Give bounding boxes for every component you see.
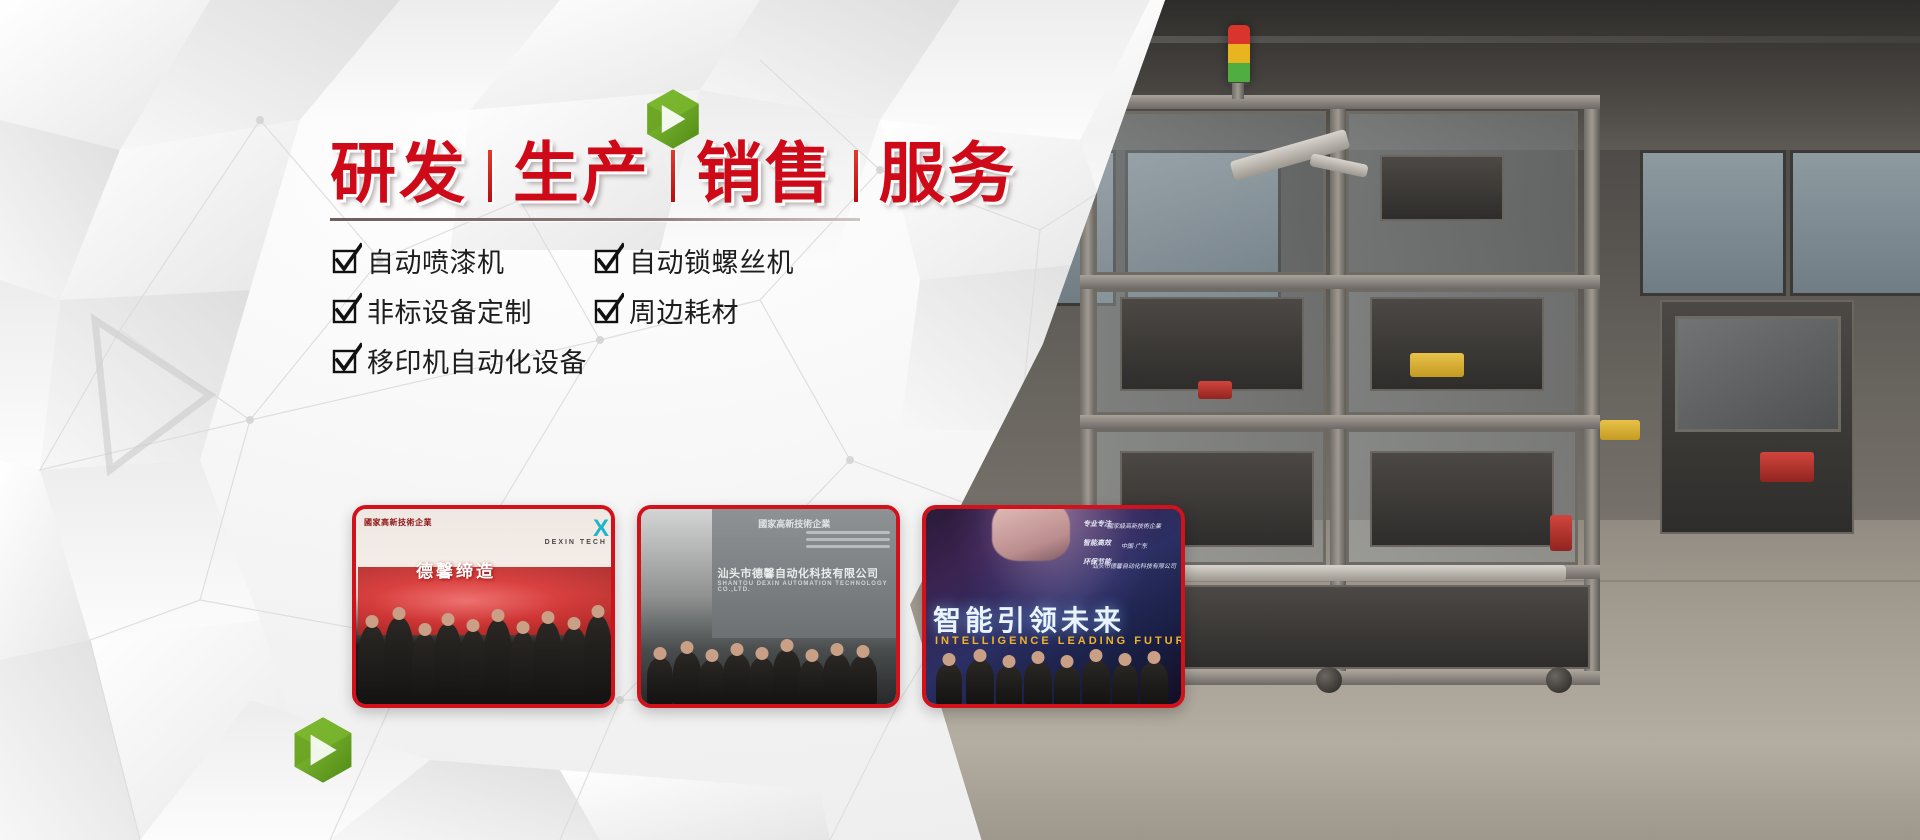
card1-logo-en: DEXIN TECH: [545, 539, 607, 546]
headline-word-4: 服务: [879, 135, 1017, 212]
green-hexagon-play-icon: [645, 88, 701, 150]
checkbox-checked-icon: [334, 299, 356, 321]
list-item-label: 移印机自动化设备: [367, 341, 587, 380]
list-item: 移印机自动化设备: [334, 336, 587, 384]
card2-wall-subtitle: SHANTOU DEXIN AUTOMATION TECHNOLOGY CO.,…: [718, 581, 897, 593]
headline-separator: [488, 150, 492, 202]
green-hexagon-play-icon: [292, 716, 354, 784]
list-item: 自动锁螺丝机: [596, 236, 794, 284]
list-item-label: 自动喷漆机: [367, 241, 505, 280]
checkbox-checked-icon: [596, 249, 618, 271]
company-wall-team-photo: 國家高新技術企業 汕头市德馨自动化科技有限公司 SHANTOU DEXIN AU…: [637, 505, 900, 708]
headline-word-2: 生产: [513, 135, 651, 212]
checkbox-checked-icon: [334, 249, 356, 271]
promo-banner: 研发 生产 销售 服务 自动喷漆机: [0, 0, 1920, 840]
headline-separator: [854, 150, 858, 202]
team-people-group: [926, 654, 1181, 704]
list-item: 周边耗材: [596, 286, 794, 334]
headline-word-3: 销售: [696, 135, 834, 212]
card1-slogan: 德馨缔造: [416, 557, 496, 582]
headline-separator: [671, 150, 675, 202]
team-people-group: [356, 596, 611, 704]
checklist-column-right: 自动锁螺丝机 周边耗材: [596, 236, 794, 336]
checkbox-checked-icon: [596, 299, 618, 321]
checklist-column-left: 自动喷漆机 非标设备定制 移印机自动化设备: [334, 236, 587, 386]
card3-title-cn: 智能引领未来: [933, 599, 1125, 639]
list-item-label: 自动锁螺丝机: [629, 241, 794, 280]
smart-future-poster-photo: 专业专注 智能高效 环保节能 國家級高新技術企業 中国·广东 汕头市德馨自动化科…: [922, 505, 1185, 708]
card2-wall-title: 汕头市德馨自动化科技有限公司: [718, 565, 879, 581]
checkbox-checked-icon: [334, 349, 356, 371]
list-item: 非标设备定制: [334, 286, 587, 334]
card3-right-tags: 國家級高新技術企業 中国·广东 汕头市德馨自动化科技有限公司: [1092, 521, 1176, 581]
team-people-group: [641, 642, 896, 704]
card3-rtag-1: 國家級高新技術企業: [1092, 521, 1176, 530]
card3-title-en: INTELLIGENCE LEADING FUTURE: [935, 635, 1185, 647]
card3-rtag-2: 中国·广东: [1092, 541, 1176, 550]
card2-wall-text-lines: [806, 531, 890, 552]
headline-word-1: 研发: [330, 135, 468, 212]
headline-underline: [330, 218, 860, 221]
exhibition-booth-team-photo: 國家高新技術企業 X DEXIN TECH 德馨缔造: [352, 505, 615, 708]
list-item: 自动喷漆机: [334, 236, 587, 284]
list-item-label: 周边耗材: [629, 291, 739, 330]
list-item-label: 非标设备定制: [367, 291, 532, 330]
card1-badge: 國家高新技術企業: [364, 517, 432, 528]
card3-rtag-3: 汕头市德馨自动化科技有限公司: [1092, 561, 1176, 570]
card2-badge: 國家高新技術企業: [758, 517, 830, 530]
